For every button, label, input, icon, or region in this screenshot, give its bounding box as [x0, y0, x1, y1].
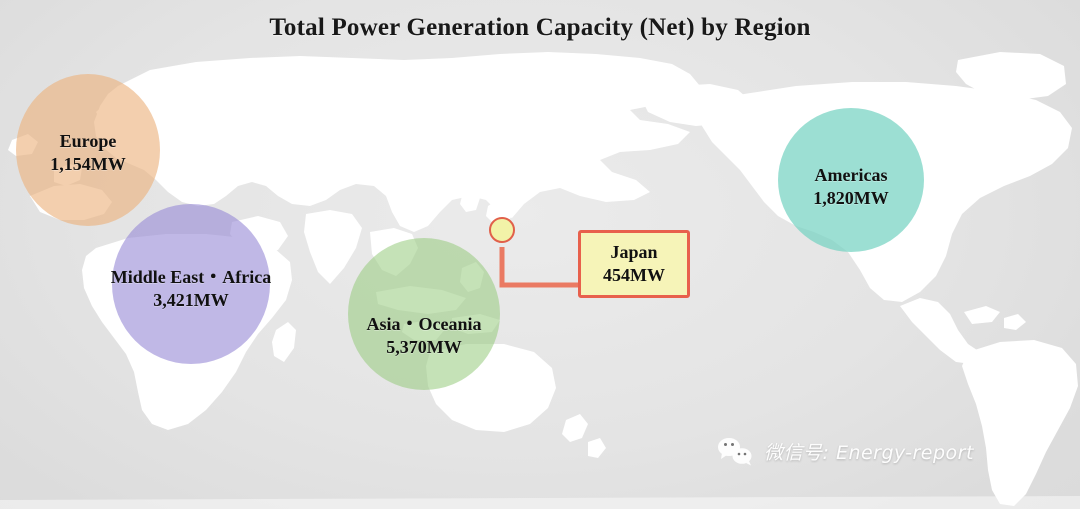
region-label-middle-east-africa: Middle East・Africa: [111, 266, 271, 289]
infographic-canvas: Total Power Generation Capacity (Net) by…: [0, 0, 1080, 509]
wechat-icon: [716, 436, 754, 466]
watermark-text: 微信号: Energy-report: [764, 438, 974, 465]
watermark: 微信号: Energy-report: [716, 436, 974, 466]
page-title: Total Power Generation Capacity (Net) by…: [0, 14, 1080, 42]
region-label-europe: Europe: [60, 130, 117, 153]
japan-callout-label: Japan: [610, 241, 657, 264]
region-bubble-europe[interactable]: Europe 1,154MW: [16, 74, 160, 226]
region-label-asia-oceania: Asia・Oceania: [367, 313, 482, 336]
region-bubble-americas[interactable]: Americas 1,820MW: [778, 108, 924, 252]
region-value-asia-oceania: 5,370MW: [386, 336, 462, 359]
japan-map-marker-icon[interactable]: [489, 217, 515, 243]
region-value-americas: 1,820MW: [813, 187, 889, 210]
region-label-americas: Americas: [815, 164, 888, 187]
japan-callout-box[interactable]: Japan 454MW: [578, 230, 690, 298]
region-value-middle-east-africa: 3,421MW: [153, 289, 229, 312]
region-bubble-middle-east-africa[interactable]: Middle East・Africa 3,421MW: [112, 204, 270, 364]
region-bubble-asia-oceania[interactable]: Asia・Oceania 5,370MW: [348, 238, 500, 390]
region-value-europe: 1,154MW: [50, 153, 126, 176]
japan-callout-value: 454MW: [603, 264, 665, 287]
